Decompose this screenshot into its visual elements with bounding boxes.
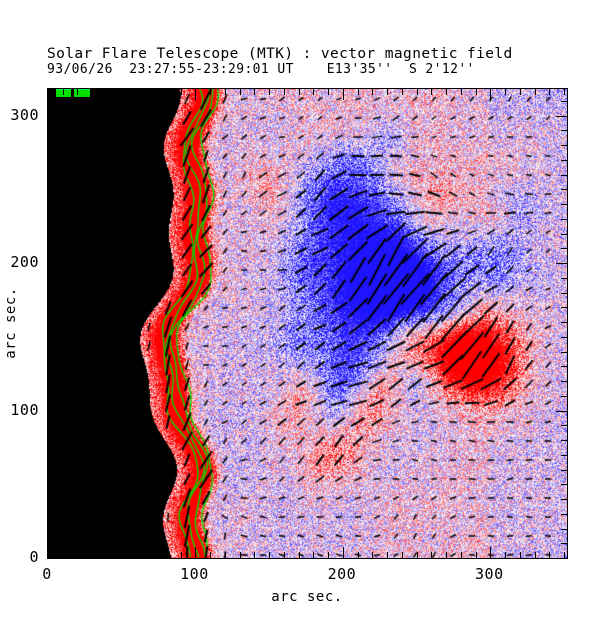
y-minor-tick — [48, 543, 54, 544]
x-minor-tick — [328, 89, 329, 95]
y-major-tick — [48, 263, 59, 264]
y-minor-tick — [561, 352, 567, 353]
x-minor-tick — [136, 89, 137, 95]
y-minor-tick — [561, 337, 567, 338]
x-minor-tick — [240, 552, 241, 558]
x-minor-tick — [417, 89, 418, 95]
x-minor-tick — [181, 89, 182, 95]
y-minor-tick — [48, 293, 54, 294]
y-minor-tick — [561, 234, 567, 235]
x-minor-tick — [387, 89, 388, 95]
y-major-tick — [48, 558, 59, 559]
y-minor-tick — [48, 366, 54, 367]
x-tick-label: 300 — [475, 565, 504, 583]
x-minor-tick — [431, 89, 432, 95]
x-minor-tick — [446, 552, 447, 558]
y-minor-tick — [48, 352, 54, 353]
y-minor-tick — [561, 543, 567, 544]
x-minor-tick — [225, 89, 226, 95]
y-minor-tick — [48, 175, 54, 176]
x-minor-tick — [476, 552, 477, 558]
x-minor-tick — [77, 552, 78, 558]
x-minor-tick — [505, 552, 506, 558]
y-minor-tick — [561, 101, 567, 102]
x-minor-tick — [269, 89, 270, 95]
y-minor-tick — [48, 307, 54, 308]
x-minor-tick — [402, 89, 403, 95]
y-minor-tick — [48, 396, 54, 397]
x-minor-tick — [240, 89, 241, 95]
x-minor-tick — [313, 89, 314, 95]
y-minor-tick — [48, 322, 54, 323]
y-minor-tick — [561, 145, 567, 146]
x-minor-tick — [122, 89, 123, 95]
y-minor-tick — [561, 248, 567, 249]
x-minor-tick — [549, 89, 550, 95]
y-major-tick — [48, 411, 59, 412]
y-minor-tick — [48, 145, 54, 146]
y-axis-title: arc sec. — [3, 287, 19, 358]
x-major-tick — [343, 547, 344, 558]
y-minor-tick — [48, 234, 54, 235]
x-minor-tick — [269, 552, 270, 558]
y-minor-tick — [561, 322, 567, 323]
y-minor-tick — [48, 484, 54, 485]
y-minor-tick — [561, 130, 567, 131]
y-minor-tick — [561, 470, 567, 471]
y-minor-tick — [48, 499, 54, 500]
x-minor-tick — [254, 89, 255, 95]
y-major-tick — [556, 558, 567, 559]
y-tick-label: 200 — [0, 253, 39, 271]
y-minor-tick — [48, 160, 54, 161]
magnetogram-image — [48, 89, 567, 558]
x-axis-title: arc sec. — [271, 589, 342, 605]
x-minor-tick — [210, 552, 211, 558]
x-minor-tick — [372, 552, 373, 558]
figure-title-block: Solar Flare Telescope (MTK) : vector mag… — [47, 46, 513, 78]
magnetogram-canvas — [48, 89, 567, 558]
y-minor-tick — [561, 189, 567, 190]
x-major-tick — [490, 89, 491, 100]
x-minor-tick — [535, 552, 536, 558]
y-minor-tick — [561, 455, 567, 456]
x-minor-tick — [461, 89, 462, 95]
y-tick-label: 0 — [0, 548, 39, 566]
y-minor-tick — [48, 529, 54, 530]
x-minor-tick — [402, 552, 403, 558]
x-major-tick — [48, 547, 49, 558]
y-minor-tick — [561, 307, 567, 308]
x-minor-tick — [328, 552, 329, 558]
x-minor-tick — [77, 89, 78, 95]
y-minor-tick — [48, 248, 54, 249]
y-minor-tick — [48, 204, 54, 205]
x-minor-tick — [107, 552, 108, 558]
x-minor-tick — [372, 89, 373, 95]
y-minor-tick — [561, 219, 567, 220]
x-minor-tick — [122, 552, 123, 558]
x-minor-tick — [107, 89, 108, 95]
x-minor-tick — [299, 89, 300, 95]
y-minor-tick — [561, 396, 567, 397]
y-minor-tick — [561, 484, 567, 485]
page-title: Solar Flare Telescope (MTK) : vector mag… — [47, 46, 513, 62]
x-minor-tick — [299, 552, 300, 558]
y-minor-tick — [561, 175, 567, 176]
y-minor-tick — [561, 293, 567, 294]
y-minor-tick — [561, 366, 567, 367]
y-minor-tick — [48, 130, 54, 131]
x-minor-tick — [166, 89, 167, 95]
y-minor-tick — [48, 337, 54, 338]
x-major-tick — [48, 89, 49, 100]
x-major-tick — [343, 89, 344, 100]
observation-timestamp: 93/06/26 23:27:55-23:29:01 UT E13'35'' S… — [47, 62, 513, 78]
y-minor-tick — [561, 499, 567, 500]
y-major-tick — [48, 116, 59, 117]
x-major-tick — [195, 89, 196, 100]
x-minor-tick — [505, 89, 506, 95]
y-minor-tick — [48, 381, 54, 382]
x-minor-tick — [431, 552, 432, 558]
x-tick-label: 200 — [328, 565, 357, 583]
x-minor-tick — [461, 552, 462, 558]
x-major-tick — [490, 547, 491, 558]
y-minor-tick — [48, 425, 54, 426]
figure-canvas: Solar Flare Telescope (MTK) : vector mag… — [0, 0, 612, 617]
y-major-tick — [556, 263, 567, 264]
x-minor-tick — [358, 552, 359, 558]
y-minor-tick — [561, 160, 567, 161]
y-minor-tick — [561, 381, 567, 382]
y-major-tick — [556, 116, 567, 117]
x-minor-tick — [166, 552, 167, 558]
x-minor-tick — [313, 552, 314, 558]
y-minor-tick — [48, 455, 54, 456]
y-minor-tick — [48, 189, 54, 190]
y-minor-tick — [561, 529, 567, 530]
y-minor-tick — [48, 101, 54, 102]
x-minor-tick — [417, 552, 418, 558]
x-minor-tick — [446, 89, 447, 95]
x-tick-label: 0 — [42, 565, 52, 583]
plot-area — [47, 88, 568, 559]
x-minor-tick — [92, 552, 93, 558]
x-minor-tick — [535, 89, 536, 95]
x-minor-tick — [387, 552, 388, 558]
x-minor-tick — [564, 89, 565, 95]
y-minor-tick — [561, 440, 567, 441]
y-minor-tick — [561, 278, 567, 279]
y-tick-label: 100 — [0, 401, 39, 419]
y-minor-tick — [561, 514, 567, 515]
x-major-tick — [195, 547, 196, 558]
y-minor-tick — [48, 278, 54, 279]
x-minor-tick — [520, 552, 521, 558]
x-minor-tick — [63, 552, 64, 558]
y-minor-tick — [48, 514, 54, 515]
x-minor-tick — [63, 89, 64, 95]
y-minor-tick — [561, 425, 567, 426]
x-minor-tick — [92, 89, 93, 95]
x-minor-tick — [476, 89, 477, 95]
x-minor-tick — [520, 89, 521, 95]
vector-length-scale-bar — [56, 89, 90, 96]
x-minor-tick — [254, 552, 255, 558]
x-minor-tick — [210, 89, 211, 95]
y-minor-tick — [48, 470, 54, 471]
y-major-tick — [556, 411, 567, 412]
x-minor-tick — [549, 552, 550, 558]
y-minor-tick — [48, 219, 54, 220]
x-minor-tick — [136, 552, 137, 558]
x-minor-tick — [358, 89, 359, 95]
x-tick-label: 100 — [180, 565, 209, 583]
x-minor-tick — [151, 89, 152, 95]
y-tick-label: 300 — [0, 106, 39, 124]
x-minor-tick — [284, 89, 285, 95]
x-minor-tick — [284, 552, 285, 558]
x-minor-tick — [151, 552, 152, 558]
y-minor-tick — [48, 440, 54, 441]
x-minor-tick — [225, 552, 226, 558]
y-minor-tick — [561, 204, 567, 205]
x-minor-tick — [181, 552, 182, 558]
